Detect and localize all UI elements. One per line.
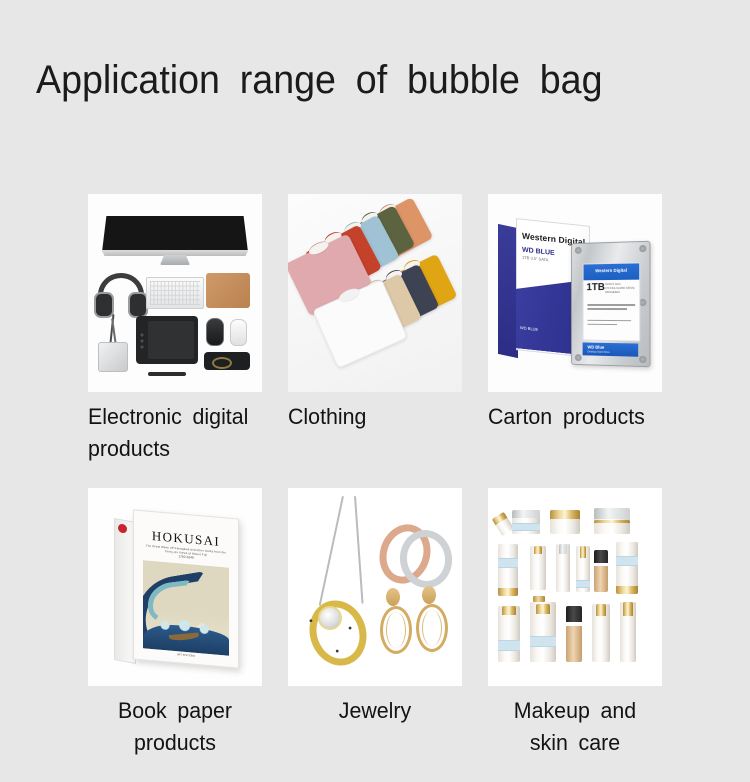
grid-cell-book-paper-products[interactable]: KATSUSHIKA HOKUSAI HOKUSAI The Great Wav… bbox=[88, 488, 262, 759]
book-paper-products-photo[interactable]: KATSUSHIKA HOKUSAI HOKUSAI The Great Wav… bbox=[88, 488, 262, 686]
cosmetic-tube-left bbox=[498, 544, 518, 596]
headphone-earcup-right bbox=[128, 292, 148, 318]
external-drive-icon bbox=[98, 342, 128, 372]
earring-right-stud bbox=[422, 586, 436, 604]
mouse-white-icon bbox=[230, 319, 247, 346]
cosmetic-jar-wide bbox=[594, 508, 630, 534]
drive-brand-text: Western Digital bbox=[595, 268, 627, 274]
headphone-earcup-left bbox=[94, 292, 114, 318]
electronic-digital-products-photo[interactable] bbox=[88, 194, 262, 392]
jewelry-photo[interactable] bbox=[288, 488, 462, 686]
drive-band-subtext: Desktop Hard Drive bbox=[587, 350, 609, 354]
cosmetic-serum-bottle bbox=[530, 546, 546, 590]
book-cover: HOKUSAI The Great Wave off Kanagawa and … bbox=[133, 509, 239, 668]
cosmetic-foundation-tall bbox=[566, 606, 582, 662]
cosmetic-foundation-bottle bbox=[594, 550, 608, 592]
cosmetic-dropper-bottle bbox=[576, 546, 590, 592]
cosmetic-lotion-bottle bbox=[498, 606, 520, 662]
keyboard-icon bbox=[146, 277, 204, 309]
mouse-black-icon bbox=[206, 318, 224, 346]
great-wave-artwork bbox=[143, 560, 229, 656]
drive-screw bbox=[575, 354, 582, 361]
monitor-stand bbox=[160, 255, 190, 265]
earring-left bbox=[380, 606, 412, 654]
drive-screw bbox=[639, 299, 646, 306]
drive-screw bbox=[639, 245, 646, 252]
caption-electronic-digital-products: Electronic digital products bbox=[88, 401, 253, 465]
earring-left-stud bbox=[386, 588, 400, 606]
clothing-photo[interactable] bbox=[288, 194, 462, 392]
wd-box-side-panel bbox=[498, 224, 518, 358]
grid-cell-electronic-digital-products[interactable]: Electronic digital products bbox=[88, 194, 262, 465]
caption-clothing: Clothing bbox=[288, 401, 453, 433]
grid-row: Electronic digital products bbox=[0, 194, 750, 488]
pen-case bbox=[204, 352, 250, 370]
makeup-and-skin-care-photo[interactable] bbox=[488, 488, 662, 686]
red-sun-dot-icon bbox=[118, 523, 127, 533]
grid-row: KATSUSHIKA HOKUSAI HOKUSAI The Great Wav… bbox=[0, 488, 750, 782]
cosmetic-tube-right bbox=[616, 542, 638, 594]
stylus-icon bbox=[148, 372, 186, 376]
drive-screw bbox=[575, 247, 582, 254]
caption-makeup-and-skin-care: Makeup and skin care bbox=[492, 695, 657, 759]
drawing-tablet-icon bbox=[136, 316, 198, 364]
cosmetic-spray-bottle bbox=[556, 544, 570, 592]
application-grid: Electronic digital products bbox=[0, 194, 750, 782]
caption-book-paper-products: Book paper products bbox=[92, 695, 257, 759]
cosmetic-jar-gold bbox=[550, 510, 580, 534]
grid-cell-carton-products[interactable]: Western Digital WD BLUE 1TB 3.5" SATA We… bbox=[488, 194, 662, 433]
drive-screw bbox=[639, 356, 646, 363]
drive-blue-footer-band: WD Blue Desktop Hard Drive bbox=[583, 342, 639, 356]
drive-label-blue-band: Western Digital bbox=[584, 263, 640, 280]
drive-label: Western Digital 1TB SATA 6 Gb/s 3.5 INCH… bbox=[583, 262, 641, 341]
grid-cell-clothing[interactable]: Clothing bbox=[288, 194, 462, 433]
wd-box-side-brand-text: Western Digital bbox=[492, 237, 498, 271]
page-title: Application range of bubble bag bbox=[36, 58, 602, 103]
earring-right bbox=[416, 604, 448, 652]
cosmetic-pump-bottle bbox=[530, 602, 556, 662]
grid-cell-makeup-and-skin-care[interactable]: Makeup and skin care bbox=[488, 488, 662, 759]
caption-carton-products: Carton products bbox=[488, 401, 653, 433]
drive-meta-text: SATA 6 Gb/s 3.5 INCH HARD DRIVE WD10EZEX bbox=[605, 282, 637, 295]
mousepad bbox=[206, 273, 250, 308]
monitor-icon bbox=[102, 216, 248, 252]
grid-cell-jewelry[interactable]: Jewelry bbox=[288, 488, 462, 727]
drive-capacity-text: 1TB bbox=[586, 282, 604, 293]
caption-jewelry: Jewelry bbox=[292, 695, 457, 727]
cosmetic-slim-bottle bbox=[620, 602, 636, 662]
cosmetic-mist-bottle bbox=[592, 604, 610, 662]
cosmetic-jar-silver bbox=[512, 510, 540, 534]
carton-products-photo[interactable]: Western Digital WD BLUE 1TB 3.5" SATA We… bbox=[488, 194, 662, 392]
wd-hard-drive: Western Digital 1TB SATA 6 Gb/s 3.5 INCH… bbox=[571, 241, 650, 368]
pendant-gemstone bbox=[318, 606, 342, 630]
